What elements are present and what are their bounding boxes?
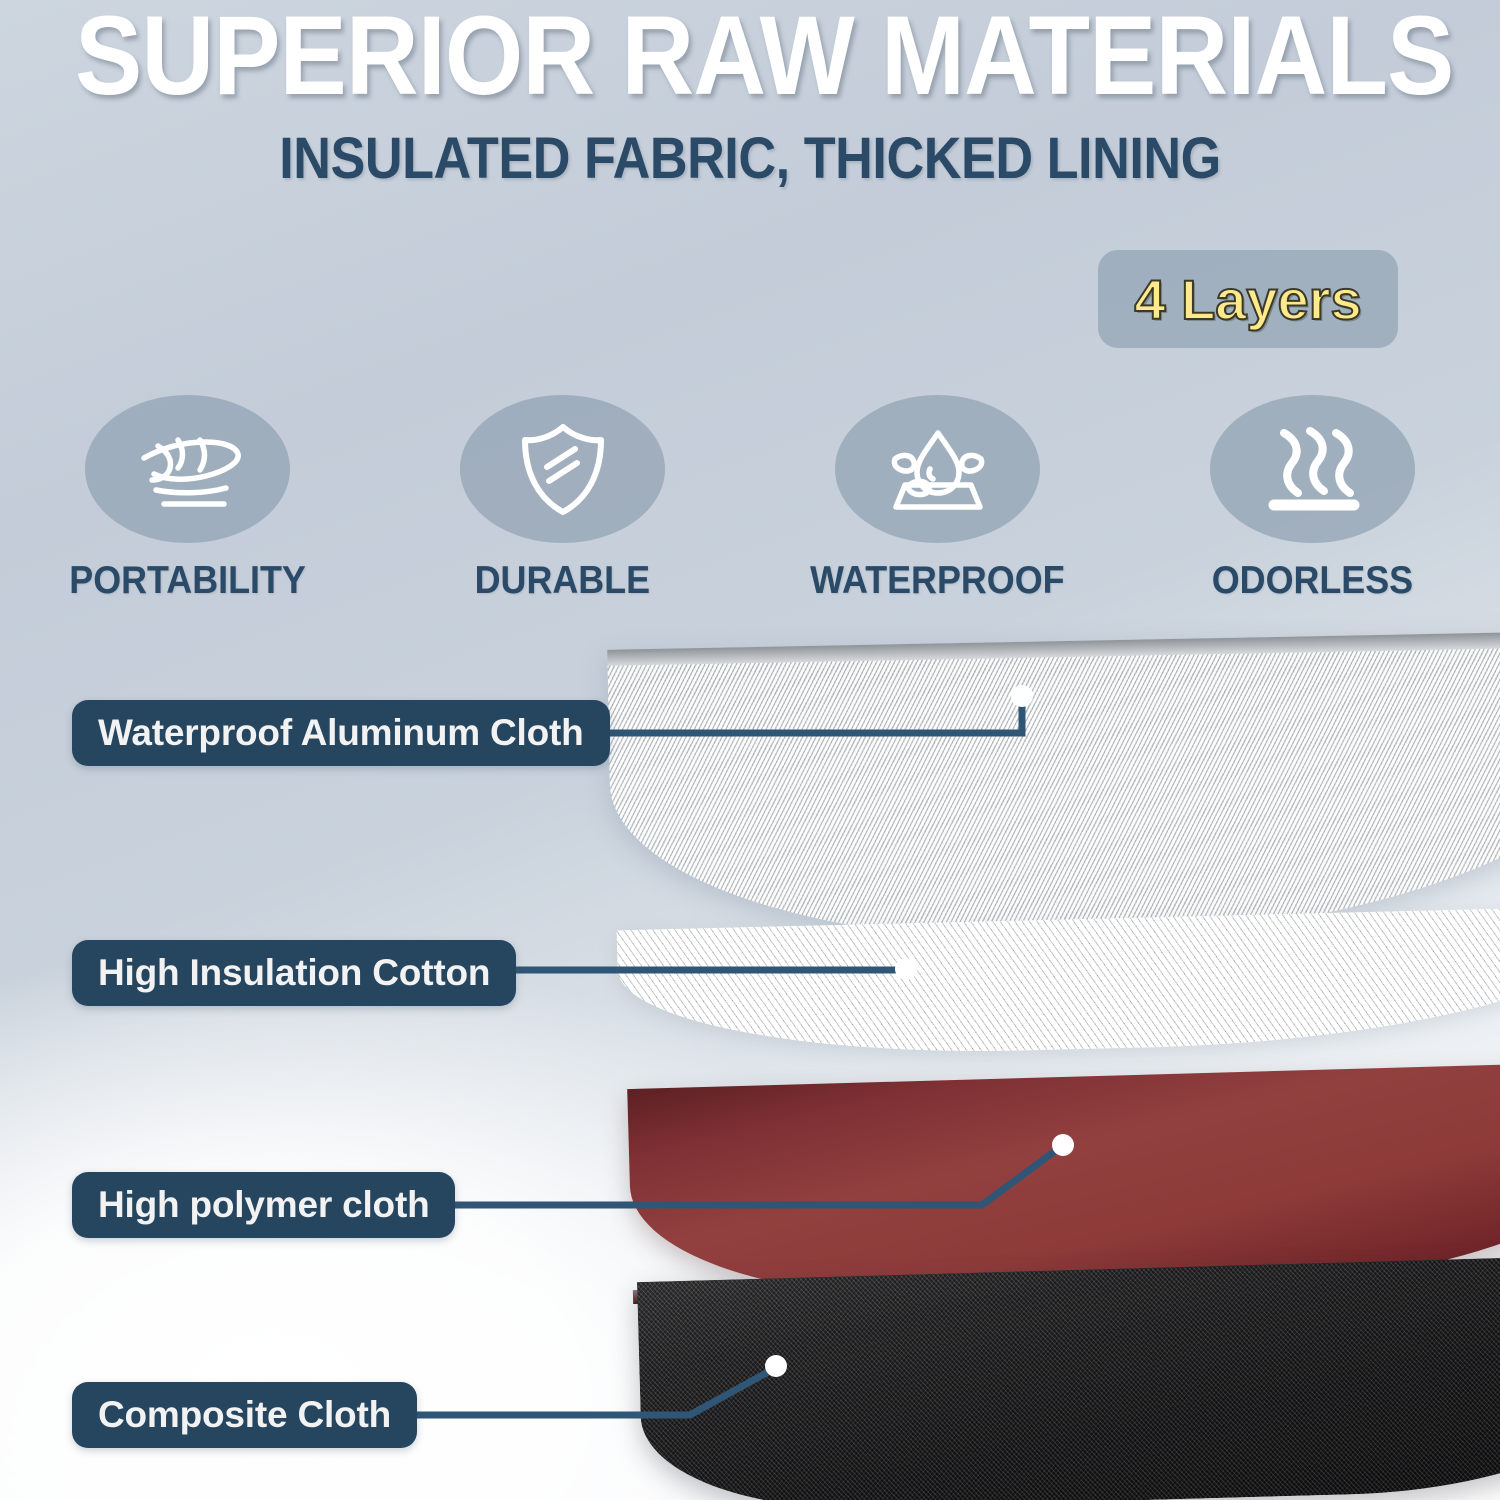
layer-callout-polymer: High polymer cloth <box>72 1172 455 1238</box>
layer-callout-aluminum: Waterproof Aluminum Cloth <box>72 700 610 766</box>
layer-label-aluminum: Waterproof Aluminum Cloth <box>98 712 584 754</box>
layer-label-polymer: High polymer cloth <box>98 1184 429 1226</box>
layer-callout-composite: Composite Cloth <box>72 1382 417 1448</box>
infographic-root: SUPERIOR RAW MATERIALS INSULATED FABRIC,… <box>0 0 1500 1500</box>
layer-callout-cotton: High Insulation Cotton <box>72 940 516 1006</box>
layer-sheet-composite <box>637 1254 1500 1500</box>
layer-sheet-cotton <box>617 906 1500 1061</box>
layer-label-composite: Composite Cloth <box>98 1394 391 1436</box>
layer-sheet-aluminum <box>607 630 1500 950</box>
layer-label-cotton: High Insulation Cotton <box>98 952 490 994</box>
